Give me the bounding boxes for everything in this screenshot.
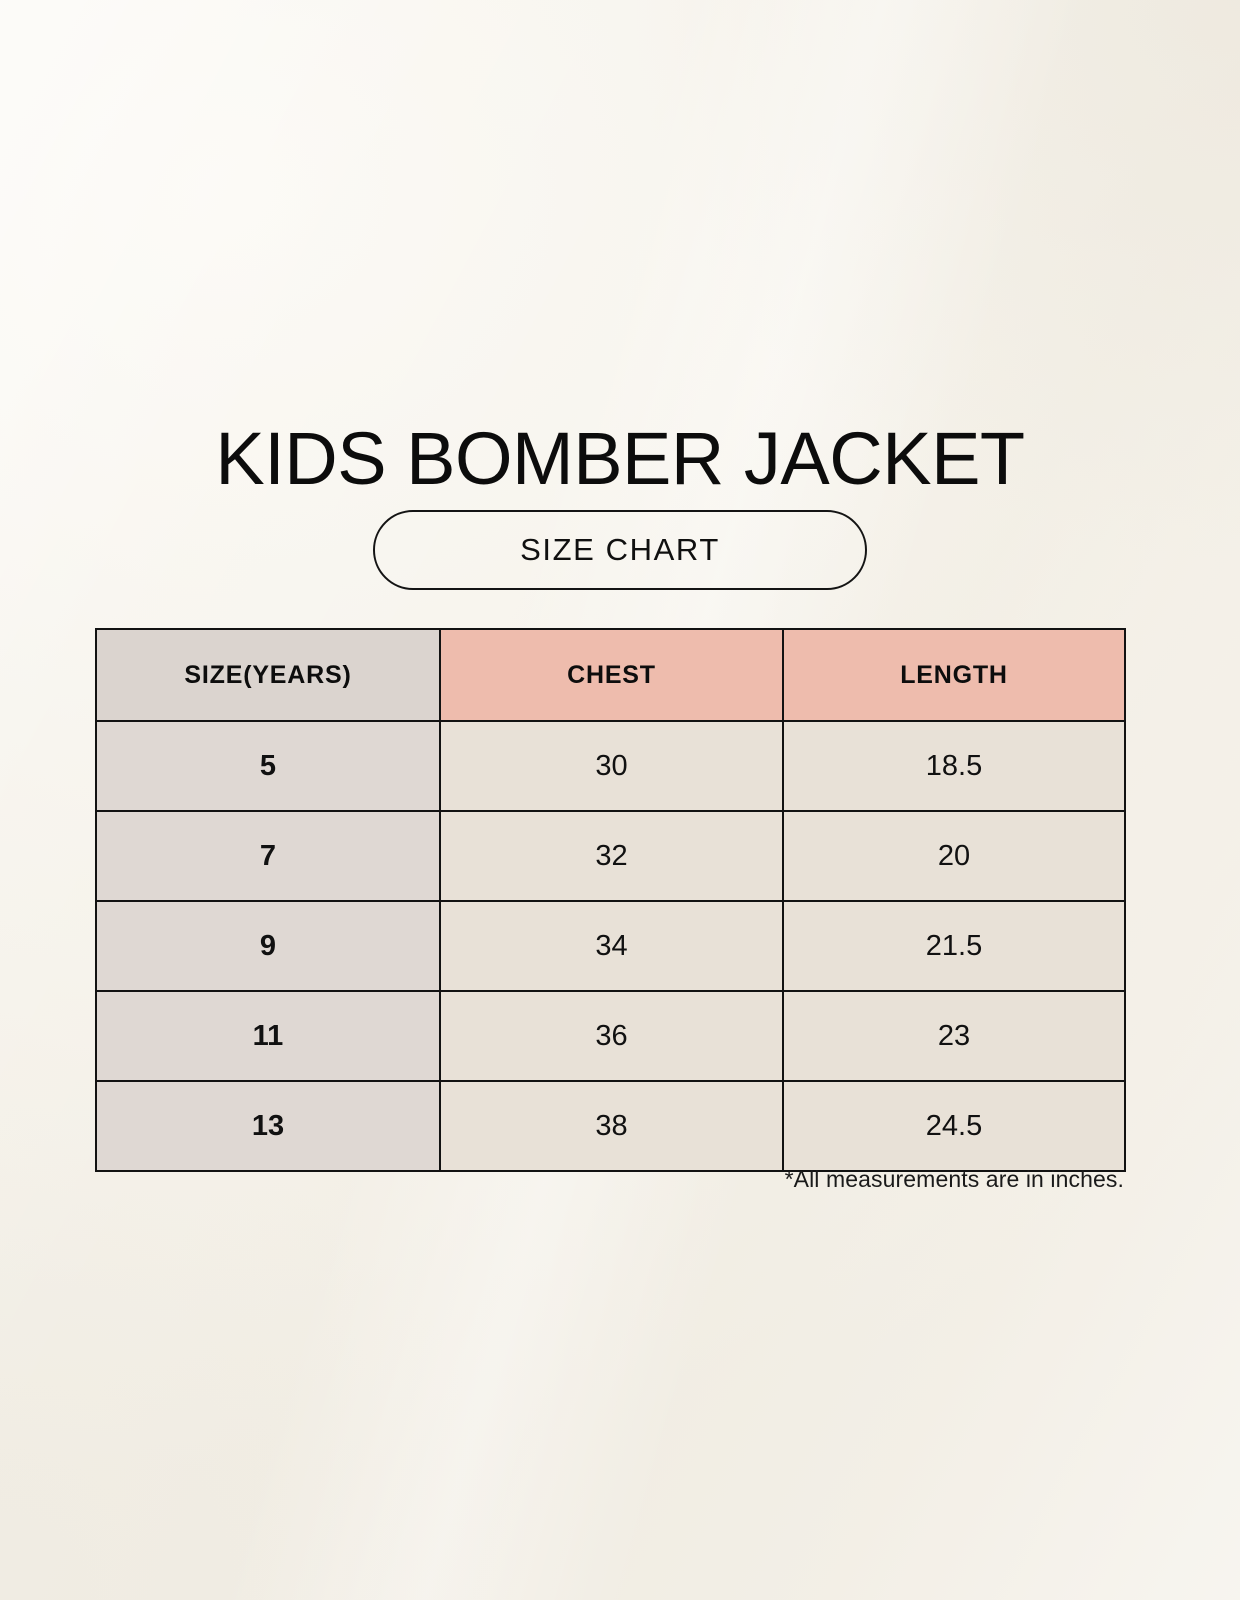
table-row: 5 30 18.5 <box>96 721 1125 811</box>
cell-chest: 34 <box>440 901 783 991</box>
cell-size: 7 <box>96 811 440 901</box>
size-chart-table: SIZE(YEARS) CHEST LENGTH 5 30 18.5 7 32 … <box>95 628 1126 1172</box>
table-header: SIZE(YEARS) CHEST LENGTH <box>96 629 1125 721</box>
cell-size: 11 <box>96 991 440 1081</box>
cell-length: 18.5 <box>783 721 1125 811</box>
cell-size: 9 <box>96 901 440 991</box>
measurement-footnote: *All measurements are in inches. <box>95 1166 1124 1193</box>
cell-size: 13 <box>96 1081 440 1171</box>
column-header-size: SIZE(YEARS) <box>96 629 440 721</box>
table-row: 7 32 20 <box>96 811 1125 901</box>
cell-chest: 36 <box>440 991 783 1081</box>
column-header-chest: CHEST <box>440 629 783 721</box>
cell-length: 24.5 <box>783 1081 1125 1171</box>
table-row: 11 36 23 <box>96 991 1125 1081</box>
cell-size: 5 <box>96 721 440 811</box>
cell-chest: 30 <box>440 721 783 811</box>
table-body: 5 30 18.5 7 32 20 9 34 21.5 11 36 23 13 <box>96 721 1125 1171</box>
cell-chest: 32 <box>440 811 783 901</box>
column-header-length: LENGTH <box>783 629 1125 721</box>
cell-chest: 38 <box>440 1081 783 1171</box>
badge-container: SIZE CHART <box>0 510 1240 590</box>
cell-length: 23 <box>783 991 1125 1081</box>
size-chart-page: KIDS BOMBER JACKET SIZE CHART SIZE(YEARS… <box>0 0 1240 1600</box>
page-title: KIDS BOMBER JACKET <box>0 422 1240 496</box>
table-row: 13 38 24.5 <box>96 1081 1125 1171</box>
size-chart-badge: SIZE CHART <box>373 510 867 590</box>
cell-length: 20 <box>783 811 1125 901</box>
table-header-row: SIZE(YEARS) CHEST LENGTH <box>96 629 1125 721</box>
cell-length: 21.5 <box>783 901 1125 991</box>
table-row: 9 34 21.5 <box>96 901 1125 991</box>
